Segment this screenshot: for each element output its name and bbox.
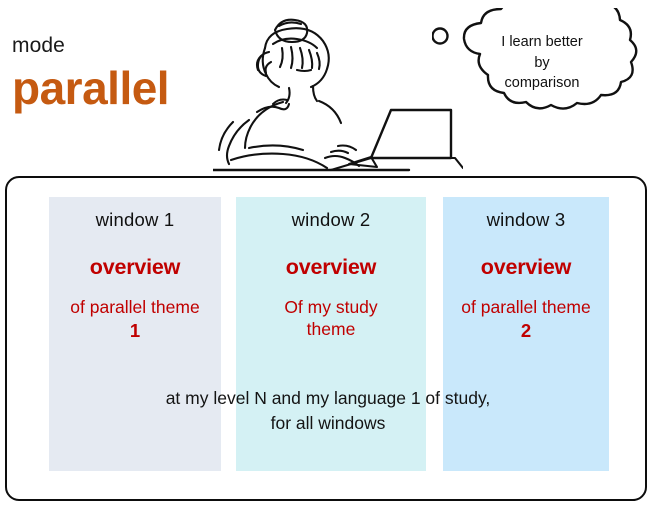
- window-1-subtitle: of parallel theme 1: [49, 296, 221, 343]
- window-panel-3[interactable]: window 3 overview of parallel theme 2: [443, 197, 609, 471]
- mode-value: parallel: [12, 64, 169, 112]
- bubble-line-1: I learn better: [468, 32, 616, 53]
- window-1-heading: overview: [49, 255, 221, 280]
- bubble-line-3: comparison: [468, 73, 616, 94]
- person-at-laptop-icon: [213, 0, 463, 175]
- window-2-subtitle-line-1: Of my study: [238, 296, 424, 318]
- window-2-subtitle: Of my study theme: [236, 296, 426, 341]
- window-1-number: 1: [51, 319, 219, 343]
- window-3-subtitle-text: of parallel theme: [461, 297, 590, 317]
- window-3-heading: overview: [443, 255, 609, 280]
- window-1-subtitle-text: of parallel theme: [70, 297, 199, 317]
- window-3-title: window 3: [443, 209, 609, 231]
- window-2-subtitle-line-2: theme: [238, 318, 424, 340]
- window-3-number: 2: [445, 319, 607, 343]
- windows-container: window 1 overview of parallel theme 1 wi…: [5, 176, 647, 501]
- window-2-heading: overview: [236, 255, 426, 280]
- window-panel-2[interactable]: window 2 overview Of my study theme: [236, 197, 426, 471]
- window-3-subtitle: of parallel theme 2: [443, 296, 609, 343]
- header: mode parallel: [0, 0, 656, 175]
- window-panel-1[interactable]: window 1 overview of parallel theme 1: [49, 197, 221, 471]
- thought-bubble-text: I learn better by comparison: [468, 32, 616, 94]
- window-1-title: window 1: [49, 209, 221, 231]
- window-2-title: window 2: [236, 209, 426, 231]
- mode-label: mode: [12, 34, 65, 58]
- bubble-line-2: by: [468, 53, 616, 74]
